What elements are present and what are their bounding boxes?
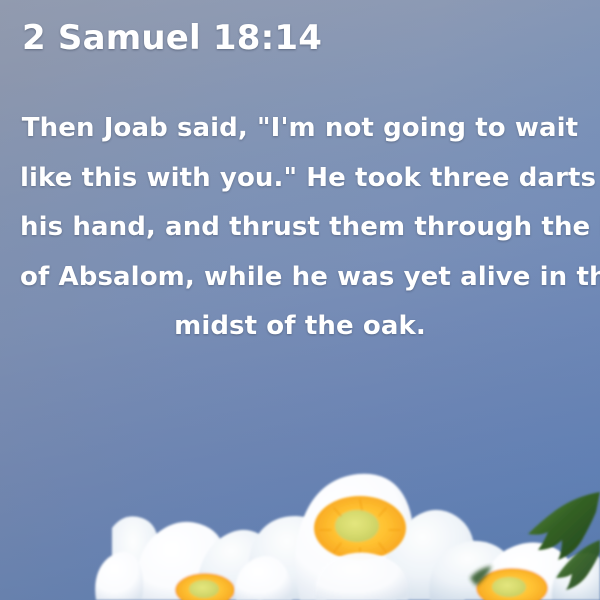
verse-body: Then Joab said, "I'm not going to wait l…	[20, 104, 580, 352]
verse-line: Then Joab said, "I'm not going to wait	[20, 104, 580, 154]
verse-card: 2 Samuel 18:14 Then Joab said, "I'm not …	[0, 0, 600, 600]
text-layer: 2 Samuel 18:14 Then Joab said, "I'm not …	[0, 0, 600, 600]
verse-reference-title: 2 Samuel 18:14	[22, 18, 322, 58]
verse-line: midst of the oak.	[20, 302, 580, 352]
verse-line: of Absalom, while he was yet alive in th…	[20, 253, 580, 303]
verse-line: like this with you." He took three darts…	[20, 154, 580, 204]
verse-line: his hand, and thrust them through the he…	[20, 203, 580, 253]
